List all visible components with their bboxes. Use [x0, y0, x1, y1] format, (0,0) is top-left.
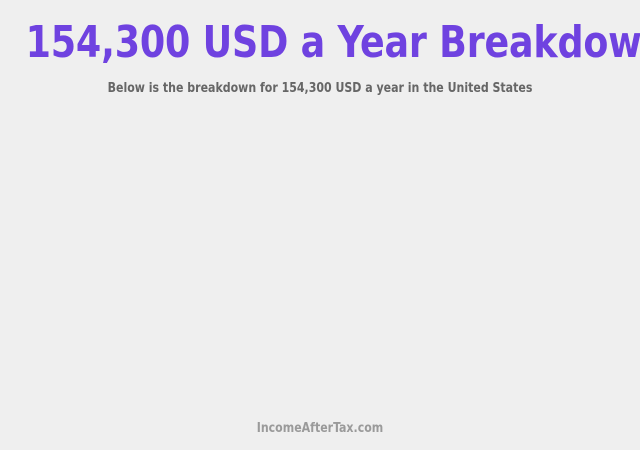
income-breakdown-page: 154,300 USD a Year Breakdown Below is th…	[0, 0, 640, 450]
site-watermark: IncomeAfterTax.com	[19, 421, 621, 436]
page-footer: IncomeAfterTax.com	[0, 421, 640, 436]
chart-area	[0, 120, 640, 405]
page-header: 154,300 USD a Year Breakdown Below is th…	[0, 0, 640, 97]
page-subtitle: Below is the breakdown for 154,300 USD a…	[19, 68, 621, 97]
page-title: 154,300 USD a Year Breakdown	[26, 18, 615, 68]
